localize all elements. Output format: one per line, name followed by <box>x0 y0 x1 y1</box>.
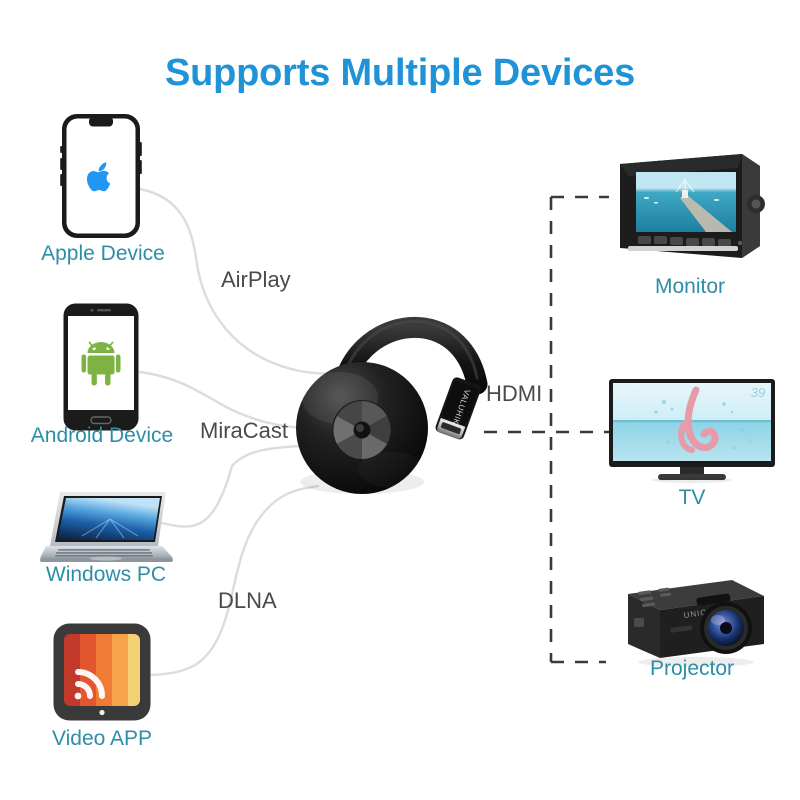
projector-icon: UNIC <box>612 572 768 668</box>
dongle-with-hdmi-cable: VALUHIKI <box>296 306 512 516</box>
protocol-label-dlna: DLNA <box>218 588 277 614</box>
device-label-android: Android Device <box>0 424 207 448</box>
laptop-icon <box>38 488 178 566</box>
tv-screen-badge: 39 <box>751 385 765 400</box>
output-label-monitor: Monitor <box>594 275 786 299</box>
video-app-cast-icon <box>52 622 152 722</box>
output-label-projector: Projector <box>596 657 788 681</box>
protocol-label-miracast: MiraCast <box>200 418 288 444</box>
device-android[interactable] <box>62 302 140 432</box>
protocol-label-airplay: AirPlay <box>221 267 291 293</box>
hdmi-link-label: HDMI <box>486 381 542 407</box>
wireless-display-dongle[interactable]: VALUHIKI <box>296 306 512 516</box>
device-label-windows-pc: Windows PC <box>0 563 214 587</box>
device-label-video-app: Video APP <box>0 727 208 751</box>
device-video-app[interactable] <box>52 622 152 722</box>
iphone-apple-logo-icon <box>60 112 142 240</box>
output-monitor[interactable] <box>614 150 766 272</box>
device-label-apple: Apple Device <box>0 242 206 266</box>
output-projector[interactable]: UNIC <box>612 572 768 668</box>
device-apple[interactable] <box>60 112 142 240</box>
flat-tv-icon: 39 <box>608 378 776 484</box>
infographic-canvas: Supports Multiple Devices <box>0 0 800 800</box>
output-label-tv: TV <box>596 486 788 510</box>
output-tv[interactable]: 39 <box>608 378 776 484</box>
android-phone-icon <box>62 302 140 432</box>
field-monitor-icon <box>614 150 766 272</box>
device-windows-pc[interactable] <box>38 488 178 566</box>
aperture-shutter-logo <box>332 400 392 460</box>
